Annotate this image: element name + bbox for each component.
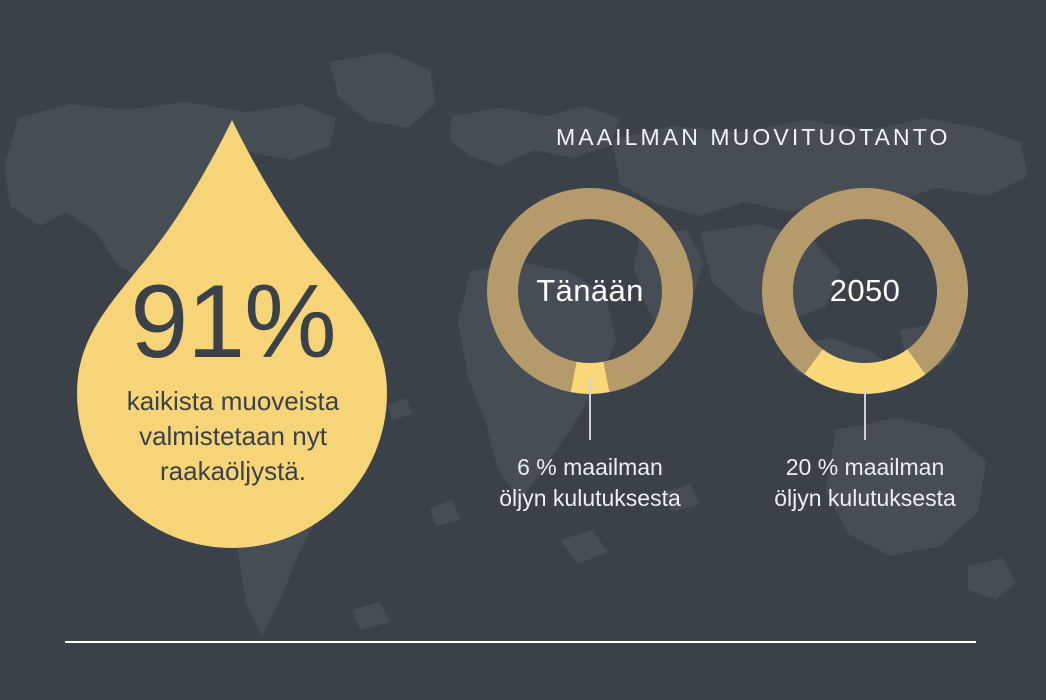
donut-2050-caption-line-1: 20 % maailman	[725, 452, 1005, 483]
drop-description: kaikista muoveista valmistetaan nyt raak…	[78, 384, 388, 489]
section-title: MAAILMAN MUOVITUOTANTO	[556, 124, 950, 151]
donut-today-base-arc	[488, 189, 693, 394]
drop-statistic: 91% kaikista muoveista valmistetaan nyt …	[78, 270, 388, 489]
donut-today-caption: 6 % maailman öljyn kulutuksesta	[450, 452, 730, 514]
infographic-canvas: 91% kaikista muoveista valmistetaan nyt …	[0, 0, 1046, 700]
donut-2050-caption: 20 % maailman öljyn kulutuksesta	[725, 452, 1005, 514]
leader-line-2050	[864, 390, 866, 440]
drop-percentage: 91%	[78, 270, 388, 374]
donut-today-rings	[487, 188, 693, 394]
donut-2050-caption-line-2: öljyn kulutuksesta	[725, 483, 1005, 514]
leader-line-today	[589, 378, 591, 440]
drop-description-line-2: valmistetaan nyt	[78, 419, 388, 454]
donut-chart-today: Tänään	[487, 188, 693, 394]
drop-description-line-3: raakaöljystä.	[78, 454, 388, 489]
drop-description-line-1: kaikista muoveista	[78, 384, 388, 419]
bottom-divider-rule	[65, 641, 976, 643]
donut-2050-rings	[762, 188, 968, 394]
donut-today-caption-line-2: öljyn kulutuksesta	[450, 483, 730, 514]
donut-today-caption-line-1: 6 % maailman	[450, 452, 730, 483]
donut-chart-2050: 2050	[762, 188, 968, 394]
